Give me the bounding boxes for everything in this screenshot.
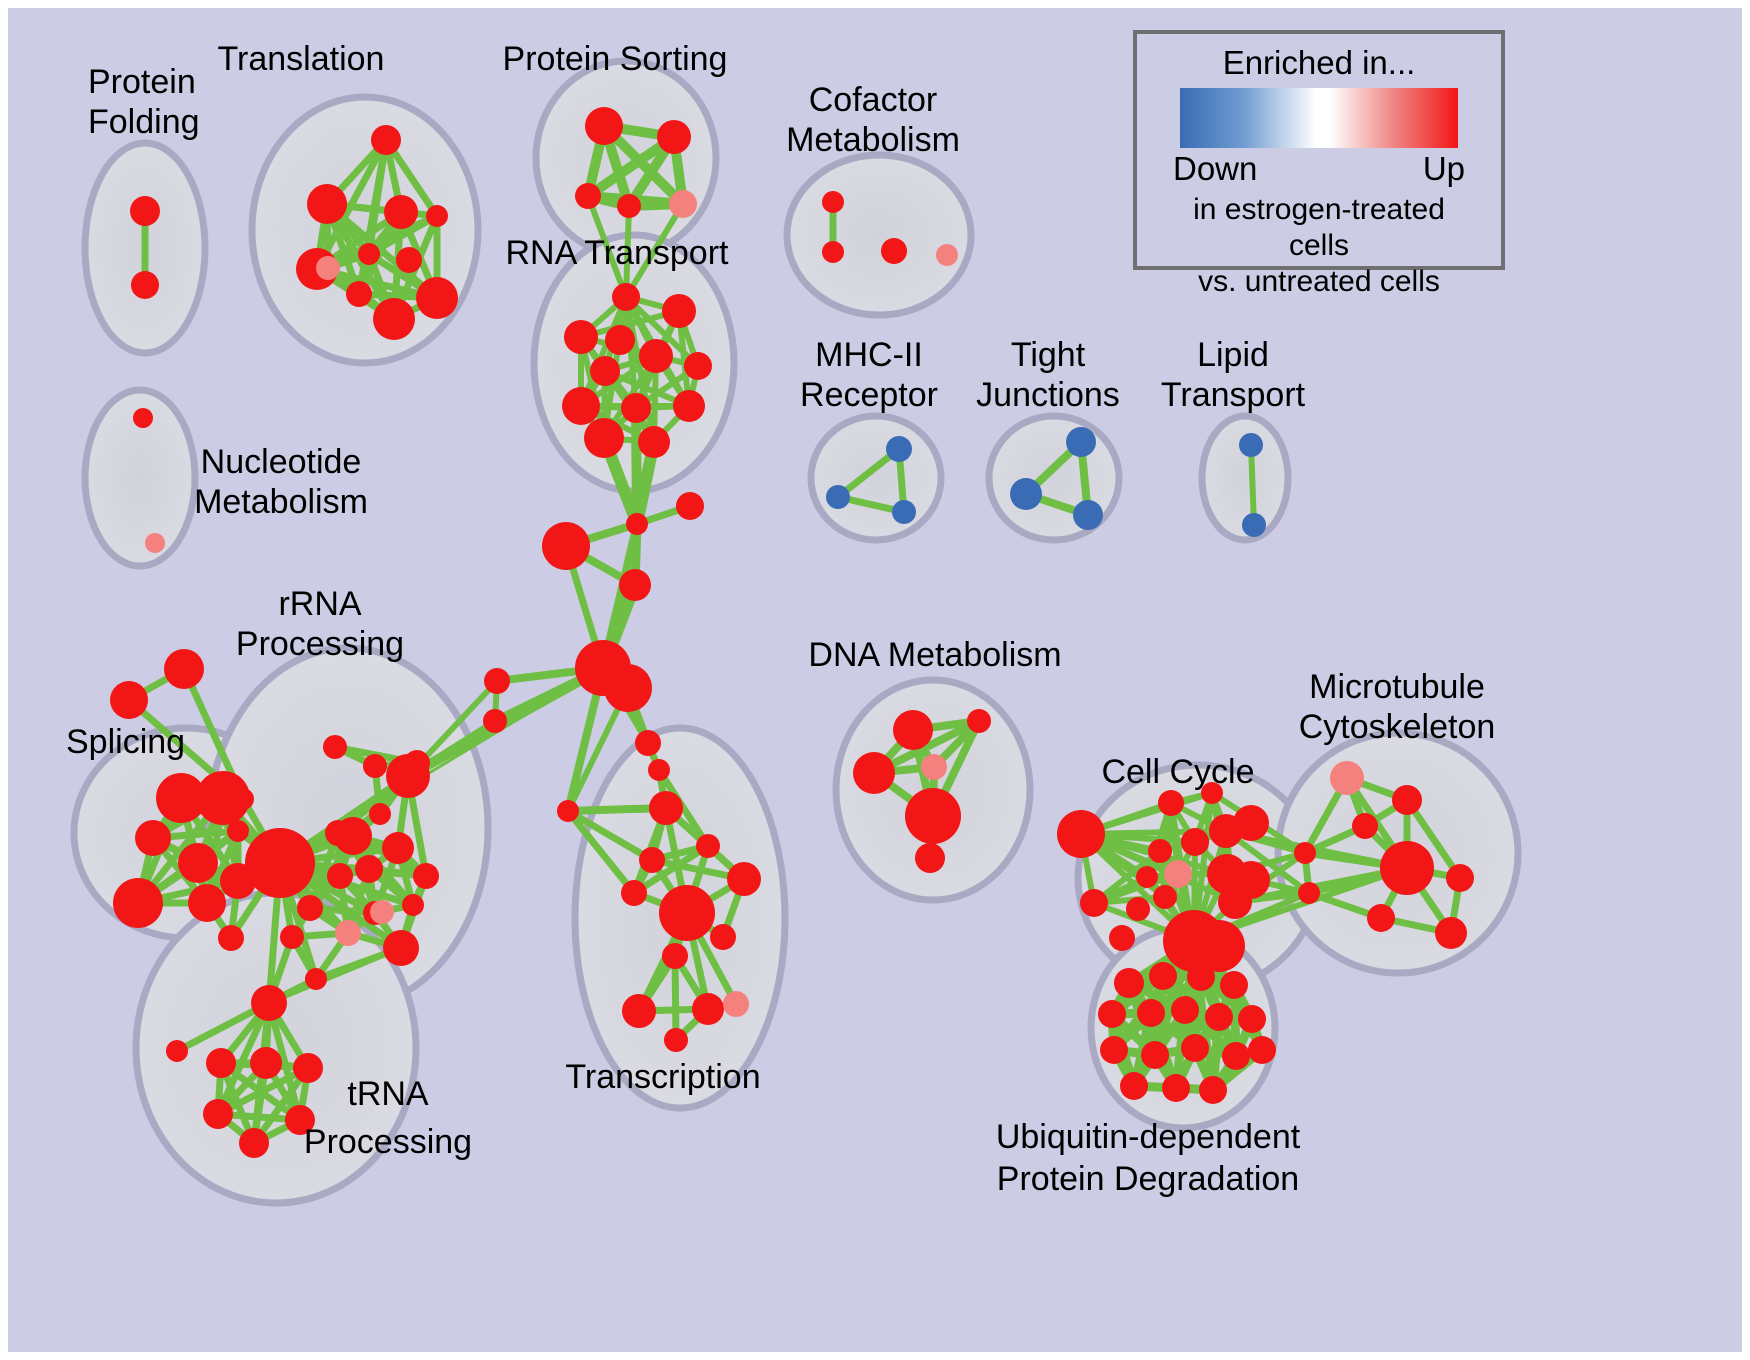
label-transcription: Transcription (565, 1058, 760, 1096)
label-tight-line1: Tight (1011, 336, 1086, 374)
node[interactable] (662, 943, 688, 969)
node[interactable] (1141, 1041, 1169, 1069)
node[interactable] (1100, 1036, 1128, 1064)
node[interactable] (621, 393, 651, 423)
node[interactable] (657, 120, 691, 154)
node[interactable] (1153, 885, 1177, 909)
node[interactable] (886, 436, 912, 462)
node[interactable] (1073, 500, 1103, 530)
node[interactable] (483, 709, 507, 733)
edges-lipid-transport (1251, 445, 1254, 525)
node[interactable] (676, 492, 704, 520)
node[interactable] (1239, 433, 1263, 457)
node[interactable] (936, 244, 958, 266)
cluster-ellipse-cofactor[interactable] (787, 155, 971, 315)
node[interactable] (358, 243, 380, 265)
node[interactable] (881, 238, 907, 264)
node[interactable] (1248, 1036, 1276, 1064)
node[interactable] (145, 533, 165, 553)
label-microtubule-line1: Microtubule (1309, 668, 1485, 706)
node[interactable] (1181, 1034, 1209, 1062)
node[interactable] (327, 863, 353, 889)
node[interactable] (484, 668, 510, 694)
node[interactable] (638, 426, 670, 458)
node[interactable] (1392, 785, 1422, 815)
legend-caption-line2: vs. untreated cells (1159, 264, 1479, 300)
node[interactable] (1171, 996, 1199, 1024)
node[interactable] (1120, 1072, 1148, 1100)
node[interactable] (305, 968, 327, 990)
node[interactable] (822, 241, 844, 263)
node[interactable] (626, 513, 648, 535)
node[interactable] (1148, 839, 1172, 863)
legend-caption-line1: in estrogen-treated cells (1159, 192, 1479, 264)
node[interactable] (371, 125, 401, 155)
node[interactable] (915, 843, 945, 873)
legend-low-label: Down (1173, 150, 1257, 188)
node[interactable] (604, 664, 652, 712)
node[interactable] (386, 754, 430, 798)
node[interactable] (373, 298, 415, 340)
node[interactable] (921, 754, 947, 780)
node[interactable] (669, 190, 697, 218)
node[interactable] (239, 1128, 269, 1158)
label-mhc-line1: MHC-II (815, 336, 923, 374)
node[interactable] (178, 843, 218, 883)
node[interactable] (1137, 999, 1165, 1027)
node[interactable] (542, 522, 590, 570)
node[interactable] (905, 788, 961, 844)
node[interactable] (113, 878, 163, 928)
node[interactable] (710, 924, 736, 950)
legend-high-label: Up (1423, 150, 1465, 188)
label-protein-folding-line1: Protein (88, 63, 196, 101)
node[interactable] (584, 418, 624, 458)
label-cofactor-line1: Cofactor (809, 81, 938, 119)
node[interactable] (1222, 1042, 1250, 1070)
node[interactable] (696, 834, 720, 858)
node[interactable] (649, 791, 683, 825)
label-splicing: Splicing (66, 723, 185, 761)
node[interactable] (1218, 885, 1252, 919)
legend-endpoints: Down Up (1173, 150, 1465, 188)
node[interactable] (396, 247, 422, 273)
node[interactable] (297, 895, 323, 921)
node[interactable] (1380, 841, 1434, 895)
node[interactable] (684, 352, 712, 380)
node[interactable] (621, 880, 647, 906)
label-rna-transport: RNA Transport (506, 234, 730, 272)
node[interactable] (639, 339, 673, 373)
label-lipid-line1: Lipid (1197, 336, 1269, 374)
node[interactable] (1098, 1000, 1126, 1028)
node[interactable] (164, 649, 204, 689)
label-protein-sorting: Protein Sorting (503, 40, 728, 78)
node[interactable] (590, 356, 620, 386)
label-tight-line2: Junctions (976, 376, 1120, 414)
node[interactable] (967, 709, 991, 733)
node[interactable] (659, 885, 715, 941)
node[interactable] (384, 195, 418, 229)
node[interactable] (1080, 889, 1108, 917)
node[interactable] (334, 817, 372, 855)
node[interactable] (1352, 813, 1378, 839)
node[interactable] (383, 930, 419, 966)
legend-panel: Enriched in... Down Up in estrogen-treat… (1133, 30, 1505, 270)
node[interactable] (218, 925, 244, 951)
node[interactable] (416, 277, 458, 319)
node[interactable] (664, 1028, 688, 1052)
node[interactable] (131, 271, 159, 299)
cluster-ellipse-translation[interactable] (252, 97, 478, 363)
node[interactable] (369, 803, 391, 825)
node[interactable] (135, 820, 171, 856)
node[interactable] (250, 1047, 282, 1079)
node[interactable] (335, 920, 361, 946)
node[interactable] (1164, 860, 1192, 888)
node[interactable] (206, 1048, 236, 1078)
label-trna-line2: Processing (304, 1123, 472, 1161)
cluster-ellipse-mhc[interactable] (811, 416, 941, 540)
node[interactable] (363, 754, 387, 778)
node[interactable] (605, 325, 635, 355)
node[interactable] (1242, 513, 1266, 537)
label-microtubule-line2: Cytoskeleton (1299, 708, 1496, 746)
node[interactable] (402, 894, 424, 916)
node[interactable] (307, 184, 347, 224)
label-cell-cycle: Cell Cycle (1101, 753, 1254, 791)
node[interactable] (370, 900, 394, 924)
label-cofactor-line2: Metabolism (786, 121, 960, 159)
node[interactable] (612, 283, 640, 311)
node[interactable] (1136, 866, 1158, 888)
node[interactable] (1187, 963, 1215, 991)
label-translation: Translation (218, 40, 385, 78)
node[interactable] (822, 191, 844, 213)
node[interactable] (557, 800, 579, 822)
node[interactable] (196, 771, 250, 825)
legend-title: Enriched in... (1159, 44, 1479, 82)
label-trna-line1: tRNA (347, 1075, 429, 1113)
node[interactable] (727, 862, 761, 896)
node[interactable] (635, 730, 661, 756)
label-rrna-line2: Processing (236, 625, 404, 663)
label-ubiquitin-line1: Ubiquitin-dependent (996, 1118, 1301, 1156)
node[interactable] (1162, 1074, 1190, 1102)
node[interactable] (893, 710, 933, 750)
node[interactable] (1158, 790, 1184, 816)
node[interactable] (316, 256, 340, 280)
node[interactable] (826, 485, 850, 509)
node[interactable] (1114, 968, 1144, 998)
label-nucleotide-line1: Nucleotide (201, 443, 362, 481)
label-dna-metabolism: DNA Metabolism (808, 636, 1061, 674)
label-ubiquitin-line2: Protein Degradation (997, 1160, 1299, 1198)
node[interactable] (892, 500, 916, 524)
node[interactable] (673, 390, 705, 422)
node[interactable] (564, 320, 598, 354)
label-rrna-line1: rRNA (278, 585, 361, 623)
node[interactable] (1367, 904, 1395, 932)
node[interactable] (251, 985, 287, 1021)
node[interactable] (130, 196, 160, 226)
label-nucleotide-line2: Metabolism (194, 483, 368, 521)
node[interactable] (355, 855, 383, 883)
node[interactable] (575, 183, 601, 209)
node[interactable] (723, 991, 749, 1017)
node[interactable] (622, 994, 656, 1028)
node[interactable] (1298, 882, 1320, 904)
network-plot-area: Protein Folding Translation Protein Sort… (8, 8, 1742, 1352)
label-mhc-line2: Receptor (800, 376, 938, 414)
node[interactable] (1294, 842, 1316, 864)
node[interactable] (245, 828, 315, 898)
node[interactable] (110, 681, 148, 719)
node[interactable] (293, 1053, 323, 1083)
node[interactable] (1446, 864, 1474, 892)
node[interactable] (1233, 805, 1269, 841)
node[interactable] (853, 752, 895, 794)
node[interactable] (1205, 1003, 1233, 1031)
node[interactable] (1010, 478, 1042, 510)
figure-canvas: Protein Folding Translation Protein Sort… (0, 0, 1750, 1360)
node[interactable] (1220, 971, 1248, 999)
node[interactable] (1066, 427, 1096, 457)
node[interactable] (346, 281, 372, 307)
node[interactable] (692, 993, 724, 1025)
node[interactable] (203, 1099, 233, 1129)
node[interactable] (188, 884, 226, 922)
node[interactable] (639, 847, 665, 873)
node[interactable] (1330, 761, 1364, 795)
legend-color-scale (1180, 88, 1458, 148)
label-lipid-line2: Transport (1161, 376, 1306, 414)
node[interactable] (648, 759, 670, 781)
node[interactable] (1238, 1005, 1266, 1033)
node[interactable] (382, 832, 414, 864)
node[interactable] (1057, 810, 1105, 858)
node[interactable] (619, 569, 651, 601)
node[interactable] (280, 925, 304, 949)
node[interactable] (1126, 897, 1150, 921)
node[interactable] (413, 863, 439, 889)
node[interactable] (562, 387, 600, 425)
node[interactable] (227, 820, 249, 842)
node[interactable] (1109, 925, 1135, 951)
node[interactable] (585, 107, 623, 145)
node[interactable] (166, 1040, 188, 1062)
node[interactable] (662, 294, 696, 328)
label-protein-folding-line2: Folding (88, 103, 200, 141)
node[interactable] (323, 735, 347, 759)
node[interactable] (617, 194, 641, 218)
node[interactable] (426, 205, 448, 227)
node[interactable] (1149, 962, 1177, 990)
node[interactable] (1181, 828, 1209, 856)
node[interactable] (1199, 1076, 1227, 1104)
node[interactable] (133, 408, 153, 428)
node[interactable] (1435, 917, 1467, 949)
